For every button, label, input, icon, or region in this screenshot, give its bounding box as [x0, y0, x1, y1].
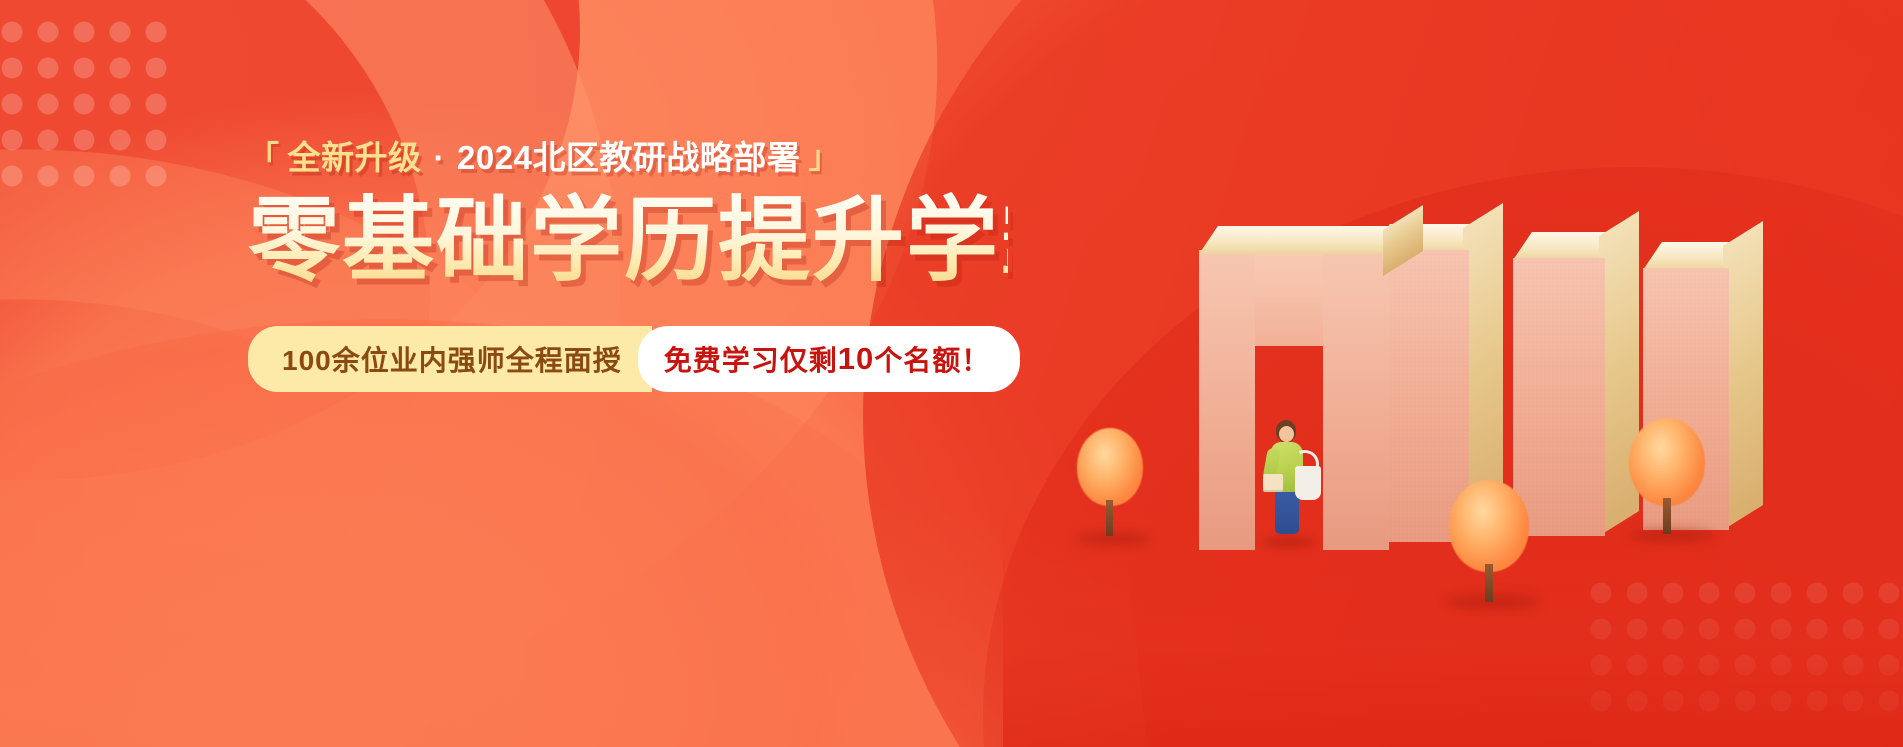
- bracket-open: 「: [248, 141, 280, 175]
- pill-teachers: 100余位业内强师全程面授: [248, 326, 652, 392]
- promo-banner: 「 全新升级 · 2024北区教研战略部署 」 零基础学历提升学霸班 100余位…: [0, 0, 1903, 747]
- tree-right-crown: [1629, 418, 1705, 506]
- student-figure: [1261, 418, 1331, 548]
- banner-pill-row: 100余位业内强师全程面授 免费学习仅剩10个名额！: [248, 326, 1008, 392]
- tree-center-crown: [1449, 480, 1529, 572]
- tree-center-trunk: [1485, 564, 1493, 602]
- book-top-edge-1: [1199, 252, 1389, 276]
- subtitle-white-text: 2024北区教研战略部署: [457, 140, 800, 176]
- tree-left-shadow: [1077, 532, 1151, 546]
- banner-content: 「 全新升级 · 2024北区教研战略部署 」 零基础学历提升学霸班 100余位…: [248, 140, 1008, 392]
- tree-left-trunk: [1106, 500, 1113, 536]
- pill-seats-suffix: 个名额！: [874, 339, 990, 379]
- subtitle-gold-text: 全新升级: [288, 140, 422, 176]
- figure-face: [1279, 426, 1294, 442]
- tree-left-crown: [1077, 428, 1143, 506]
- banner-headline: 零基础学历提升学霸班: [248, 192, 1008, 291]
- bracket-close: 」: [808, 141, 840, 175]
- subtitle-separator: ·: [430, 140, 450, 176]
- tree-right-trunk: [1663, 498, 1671, 534]
- arch-leg-right: [1323, 250, 1389, 550]
- book-top-1: [1199, 226, 1408, 254]
- arch-leg-left: [1199, 250, 1255, 550]
- banner-subtitle: 「 全新升级 · 2024北区教研战略部署 」: [248, 140, 1008, 176]
- pill-seats-remaining[interactable]: 免费学习仅剩10个名额！: [638, 326, 1021, 392]
- tree-left: [1071, 428, 1151, 546]
- figure-shadow: [1263, 536, 1315, 548]
- tree-right: [1623, 418, 1715, 544]
- book-spine-4: [1723, 221, 1763, 530]
- pill-seats-number: 10: [838, 341, 874, 377]
- illustration: [1003, 0, 1903, 747]
- pill-seats-prefix: 免费学习仅剩: [664, 339, 838, 379]
- tree-right-shadow: [1629, 528, 1715, 543]
- dot-grid-top-left: [0, 14, 176, 200]
- tree-center: [1443, 480, 1539, 612]
- figure-held-book: [1263, 474, 1283, 490]
- tree-center-shadow: [1447, 594, 1539, 610]
